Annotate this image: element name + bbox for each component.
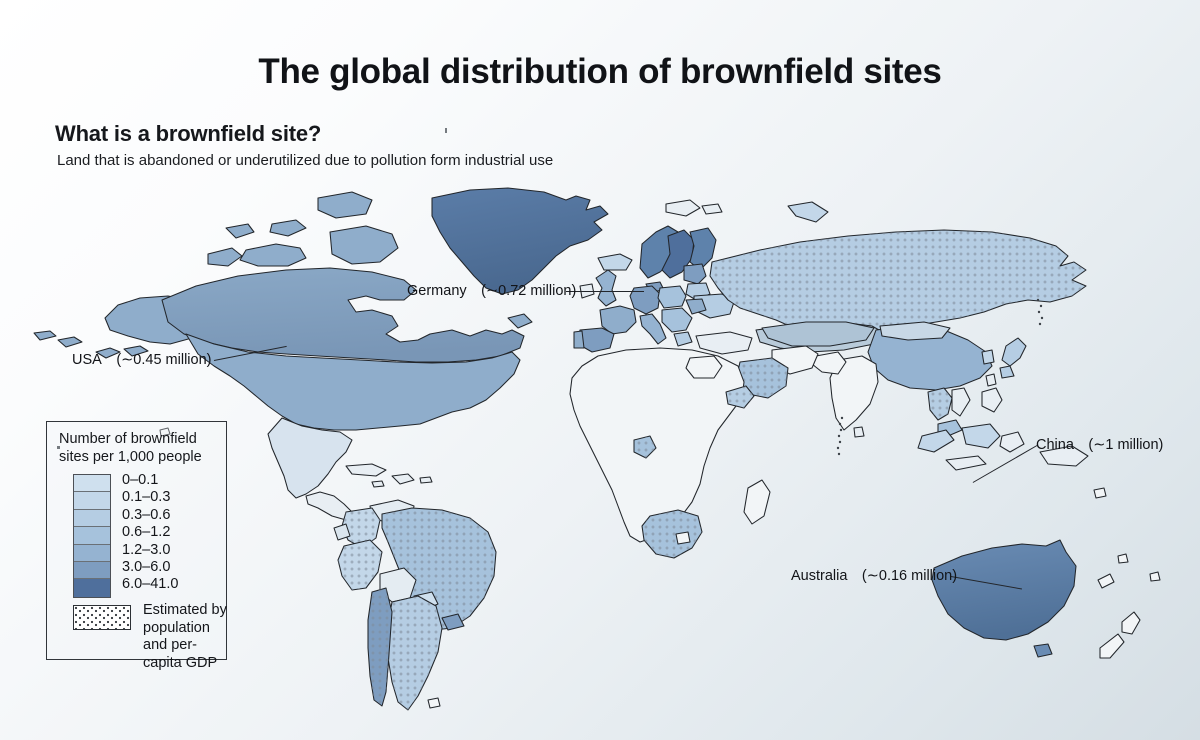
country-peru-dots [338, 540, 382, 590]
country-mongolia [880, 322, 950, 340]
dotted-pattern-swatch [73, 605, 131, 630]
annotation-usa: USA (∼0.45 million) [72, 352, 211, 368]
island-madagascar [744, 480, 770, 524]
island-vanuatu [1118, 554, 1128, 563]
country-new-zealand-n [1122, 612, 1140, 634]
island-arctic-small1 [270, 220, 306, 236]
island-tasmania [1034, 644, 1052, 657]
annotation-australia: Australia (∼0.16 million) [791, 568, 957, 584]
country-new-zealand-s [1100, 634, 1124, 658]
country-greece [674, 332, 692, 346]
island-novaya-zemlya [788, 202, 828, 222]
map-legend: Number of brownfield sites per 1,000 peo… [46, 421, 227, 660]
country-portugal [574, 331, 584, 348]
country-egypt [686, 356, 722, 378]
country-australia [932, 540, 1076, 640]
country-argentina-dots [386, 596, 442, 710]
legend-bin-label-2: 0.3–0.6 [122, 507, 178, 524]
country-indonesia-sulawesi [1000, 432, 1024, 452]
island-baffin [330, 226, 398, 264]
island-cuba [346, 464, 386, 476]
island-svalbard [666, 200, 700, 216]
annotation-china-label: China (∼1 million) [1036, 437, 1163, 453]
legend-bin-label-5: 3.0–6.0 [122, 559, 178, 576]
country-japan-2 [1000, 366, 1014, 378]
island-arctic-small2 [226, 224, 254, 238]
legend-bin-label-3: 0.6–1.2 [122, 524, 178, 541]
island-hispaniola [392, 474, 414, 484]
island-puerto-rico [420, 477, 432, 483]
country-philippines [982, 388, 1002, 412]
legend-stray-speck [57, 446, 60, 449]
island-banks [208, 248, 242, 266]
country-russia-dots [710, 230, 1086, 336]
legend-color-ramp [73, 474, 111, 598]
dotted-pattern-icon [74, 606, 130, 629]
legend-bin-label-0: 0–0.1 [122, 472, 178, 489]
aleutians-4 [34, 331, 56, 340]
legend-swatch-4 [74, 545, 110, 562]
infographic-page: The global distribution of brownfield si… [0, 0, 1200, 740]
country-indonesia-sumatra [918, 430, 954, 452]
island-newfoundland [508, 314, 532, 328]
legend-pattern-note: Estimated by population and per-capita G… [143, 602, 229, 672]
country-balkans [662, 308, 692, 332]
country-indonesia-borneo [962, 424, 1000, 448]
island-chain-kuril [1037, 299, 1043, 325]
leader-line-germany [566, 291, 644, 292]
annotation-australia-label: Australia (∼0.16 million) [791, 568, 957, 584]
legend-swatch-0 [74, 475, 110, 492]
island-svalbard2 [702, 204, 722, 214]
legend-swatch-6 [74, 579, 110, 596]
country-south-africa-dots [642, 510, 702, 558]
island-victoria [240, 244, 306, 266]
country-japan [1002, 338, 1026, 366]
island-taiwan [986, 374, 996, 386]
country-vietnam [952, 388, 970, 416]
island-jamaica [372, 481, 384, 487]
annotation-usa-label: USA (∼0.45 million) [72, 352, 211, 368]
country-united-kingdom [596, 270, 616, 306]
island-new-caledonia [1098, 574, 1114, 588]
island-fiji [1150, 572, 1160, 581]
legend-bin-labels: 0–0.10.1–0.30.3–0.60.6–1.21.2–3.03.0–6.0… [122, 472, 178, 594]
legend-swatch-2 [74, 510, 110, 527]
legend-bin-label-1: 0.1–0.3 [122, 489, 178, 506]
legend-swatch-5 [74, 562, 110, 579]
annotation-germany: Germany (∼0.72 million) [407, 283, 576, 299]
island-sri-lanka [854, 427, 864, 437]
country-korea [982, 350, 994, 364]
country-poland [658, 286, 686, 308]
island-solomon [1094, 488, 1106, 498]
country-indonesia-java [946, 456, 986, 470]
island-iceland [598, 254, 632, 270]
country-lesotho [676, 532, 690, 544]
legend-bin-label-6: 6.0–41.0 [122, 576, 178, 593]
continent-africa [570, 348, 744, 542]
aleutians-3 [58, 337, 82, 347]
legend-bin-label-4: 1.2–3.0 [122, 542, 178, 559]
legend-title: Number of brownfield sites per 1,000 peo… [59, 430, 225, 466]
annotation-china: China (∼1 million) [1036, 437, 1163, 453]
legend-swatch-3 [74, 527, 110, 544]
country-turkey [696, 332, 752, 354]
country-baltics [684, 264, 706, 284]
country-greenland [432, 188, 608, 294]
legend-swatch-1 [74, 492, 110, 509]
annotation-germany-label: Germany (∼0.72 million) [407, 283, 576, 299]
island-ellesmere [318, 192, 372, 218]
island-falklands [428, 698, 440, 708]
